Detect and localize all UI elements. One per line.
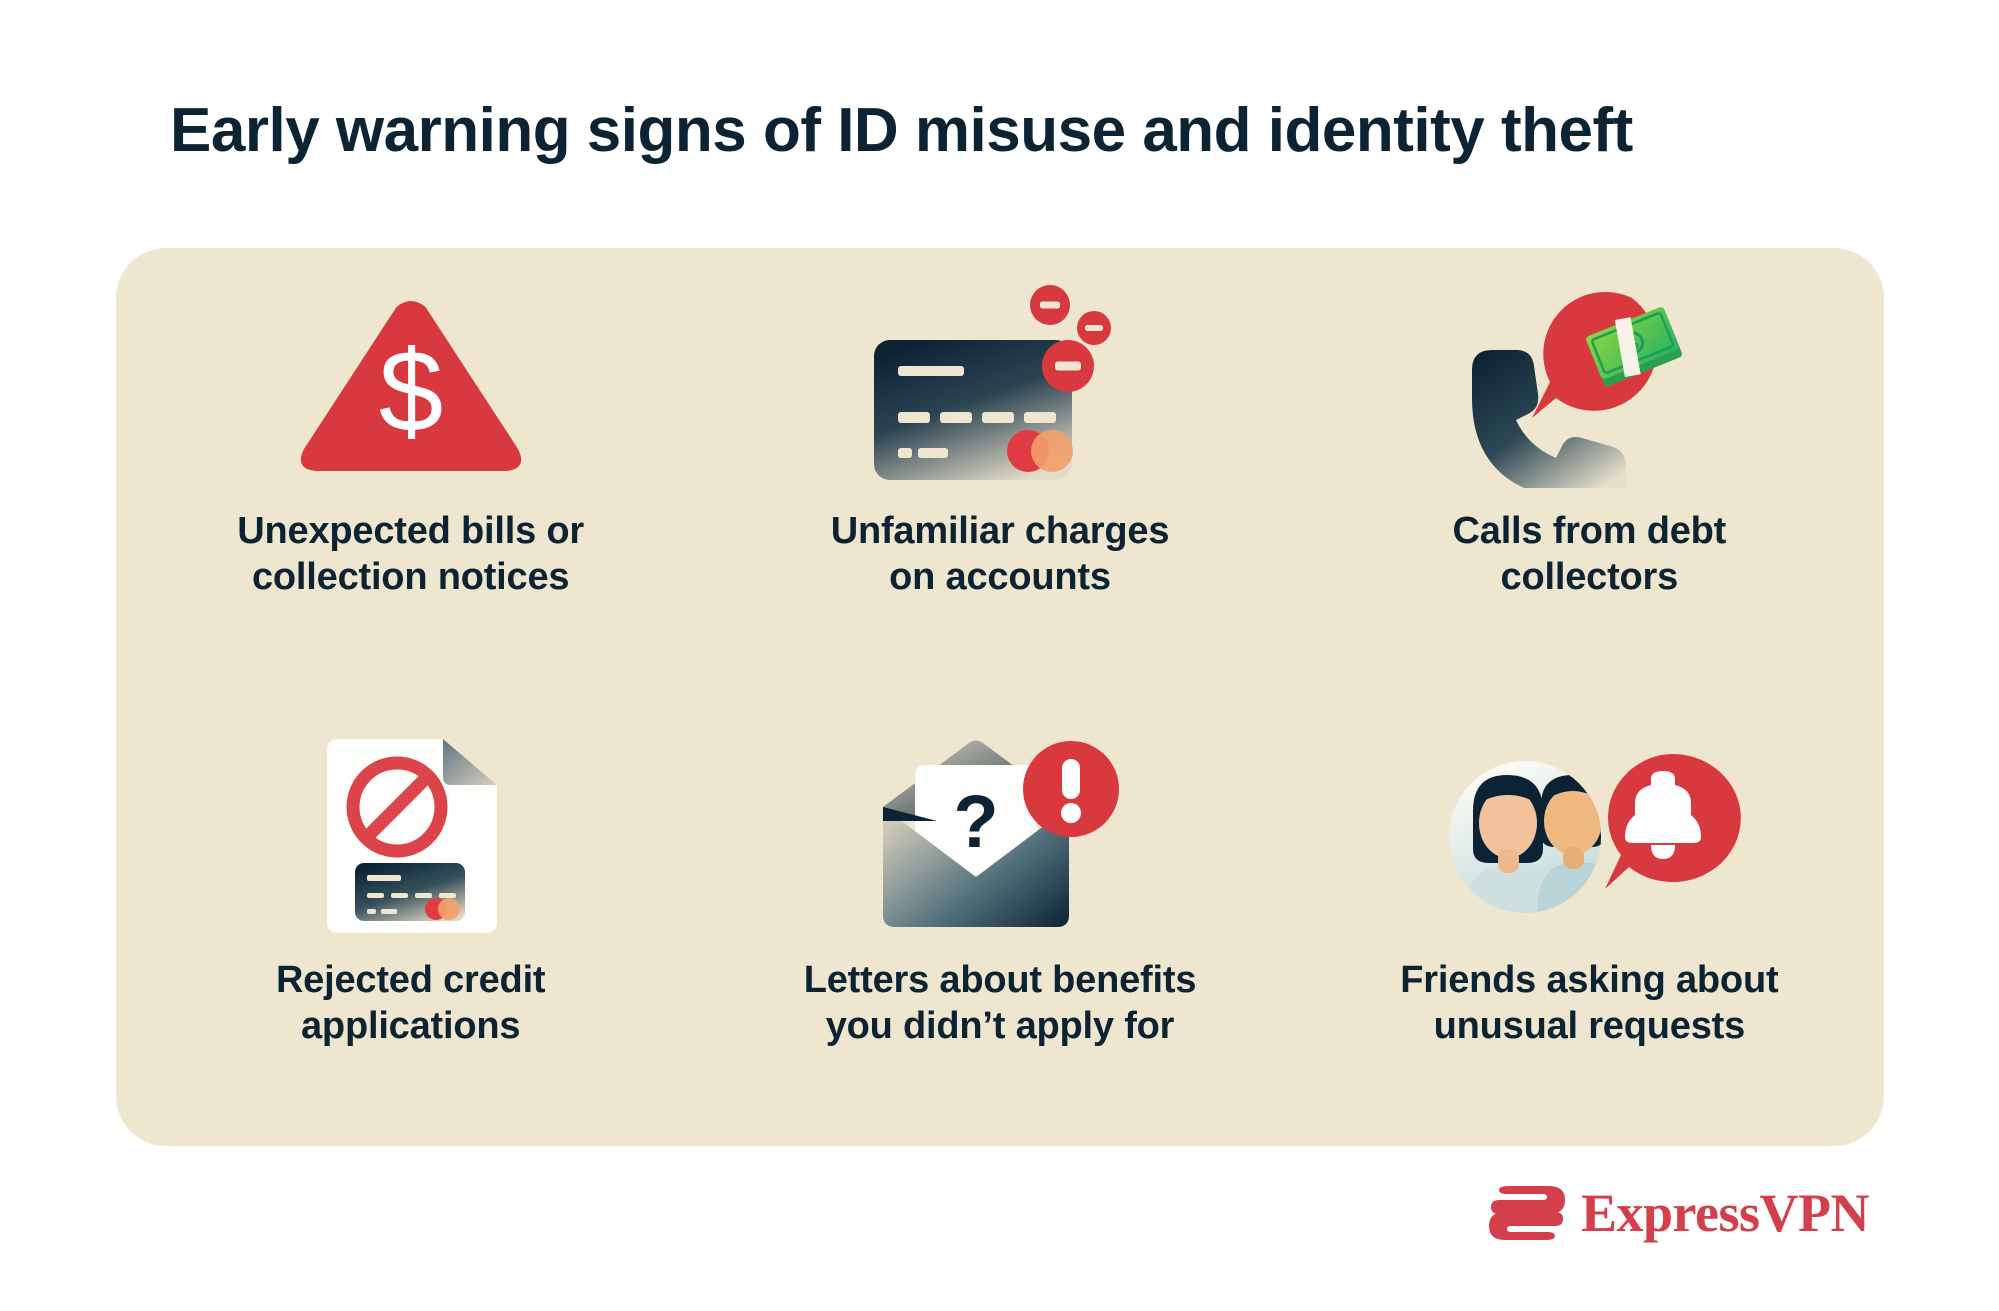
caption-line-1: Friends asking about	[1400, 957, 1778, 1003]
credit-card-declined-icon	[705, 282, 1294, 494]
caption-line-2: collectors	[1453, 554, 1727, 600]
caption-line-1: Unfamiliar charges	[831, 508, 1170, 554]
document-rejected-card-icon	[116, 731, 705, 943]
friends-bell-bubble-icon	[1295, 731, 1884, 943]
caption-line-2: applications	[276, 1003, 545, 1049]
infographic-page: Early warning signs of ID misuse and ide…	[0, 0, 1999, 1311]
caption-line-2: unusual requests	[1400, 1003, 1778, 1049]
content-panel: $ Unexpected bills or collection notices	[116, 248, 1884, 1146]
warning-sign-caption: Unfamiliar charges on accounts	[831, 508, 1170, 601]
svg-text:?: ?	[953, 780, 998, 863]
warning-sign-caption: Letters about benefits you didn’t apply …	[804, 957, 1197, 1050]
expressvpn-mark-icon	[1489, 1182, 1565, 1244]
warning-sign-item: Friends asking about unusual requests	[1295, 697, 1884, 1146]
caption-line-1: Rejected credit	[276, 957, 545, 1003]
warning-sign-item: ? Letters about benefits you didn’t appl…	[705, 697, 1294, 1146]
page-title: Early warning signs of ID misuse and ide…	[170, 96, 1870, 165]
warning-sign-caption: Friends asking about unusual requests	[1400, 957, 1778, 1050]
warning-triangle-dollar-icon: $	[116, 282, 705, 494]
warning-sign-item: S Calls from debt collectors	[1295, 248, 1884, 697]
warning-sign-caption: Calls from debt collectors	[1453, 508, 1727, 601]
warning-signs-grid: $ Unexpected bills or collection notices	[116, 248, 1884, 1146]
warning-sign-item: Rejected credit applications	[116, 697, 705, 1146]
caption-line-1: Unexpected bills or	[237, 508, 584, 554]
caption-line-2: on accounts	[831, 554, 1170, 600]
caption-line-2: collection notices	[237, 554, 584, 600]
expressvpn-wordmark: ExpressVPN	[1581, 1186, 1869, 1240]
warning-sign-caption: Unexpected bills or collection notices	[237, 508, 584, 601]
expressvpn-logo[interactable]: ExpressVPN	[1489, 1182, 1869, 1244]
svg-text:$: $	[378, 326, 443, 456]
warning-sign-item: $ Unexpected bills or collection notices	[116, 248, 705, 697]
caption-line-1: Letters about benefits	[804, 957, 1197, 1003]
envelope-question-alert-icon: ?	[705, 731, 1294, 943]
warning-sign-caption: Rejected credit applications	[276, 957, 545, 1050]
caption-line-1: Calls from debt	[1453, 508, 1727, 554]
caption-line-2: you didn’t apply for	[804, 1003, 1197, 1049]
phone-money-bubble-icon: S	[1295, 282, 1884, 494]
warning-sign-item: Unfamiliar charges on accounts	[705, 248, 1294, 697]
